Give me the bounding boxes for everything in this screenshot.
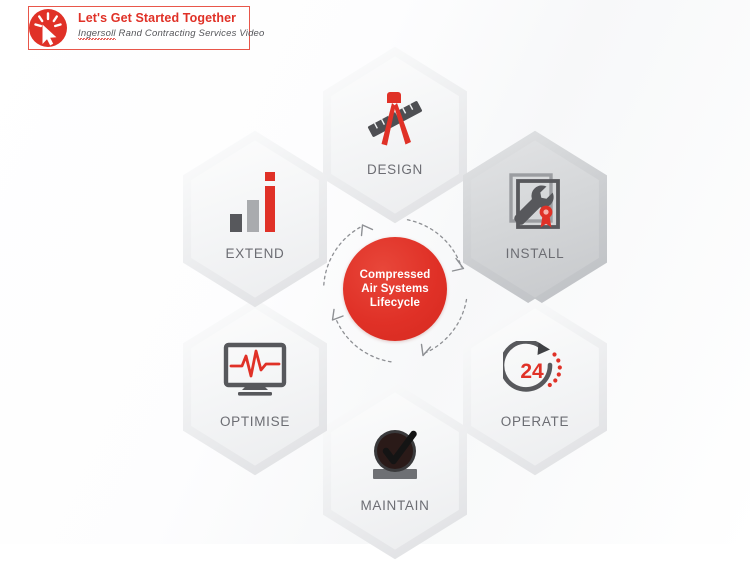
lifecycle-center-text: Compressed Air Systems Lifecycle — [360, 268, 431, 310]
lifecycle-node-label: EXTEND — [175, 246, 335, 261]
lifecycle-node-optimise[interactable]: OPTIMISE — [175, 296, 335, 478]
header-title: Let's Get Started Together — [78, 11, 254, 25]
award-ribbon — [540, 206, 553, 228]
lifecycle-node-label: OPTIMISE — [175, 414, 335, 429]
header-subtitle: Ingersoll Rand Contracting Services Vide… — [78, 28, 254, 40]
lifecycle-node-maintain[interactable]: MAINTAIN — [315, 380, 475, 562]
compressed-air-lifecycle-diagram: Compressed Air Systems Lifecycle — [0, 0, 750, 544]
compass-and-ruler-icon — [315, 86, 475, 152]
bar-chart-growth-icon — [175, 170, 335, 236]
header-subtitle-rest: Rand Contracting Services Video — [116, 28, 265, 39]
lifecycle-center-circle[interactable]: Compressed Air Systems Lifecycle — [343, 237, 447, 341]
center-line-1: Compressed — [360, 268, 431, 282]
click-cursor-logo-icon — [26, 6, 70, 50]
wrench-document-award-icon — [455, 170, 615, 236]
lifecycle-node-operate[interactable]: 24 OPERATE — [455, 296, 615, 478]
center-line-3: Lifecycle — [360, 296, 431, 310]
gauge-checkmark-icon — [315, 422, 475, 488]
operate-24-label: 24 — [520, 360, 544, 383]
lifecycle-node-label: OPERATE — [455, 414, 615, 429]
lifecycle-node-label: DESIGN — [315, 162, 475, 177]
lifecycle-node-label: MAINTAIN — [315, 498, 475, 513]
lifecycle-node-design[interactable]: DESIGN — [315, 44, 475, 226]
24-hour-cycle-arrow-icon: 24 — [455, 338, 615, 404]
header-text-block: Let's Get Started Together Ingersoll Ran… — [78, 11, 254, 40]
lifecycle-node-install[interactable]: INSTALL — [455, 128, 615, 310]
header-subtitle-misspelled-word: Ingersoll — [78, 28, 116, 40]
lifecycle-node-label: INSTALL — [455, 246, 615, 261]
lifecycle-node-extend[interactable]: EXTEND — [175, 128, 335, 310]
center-line-2: Air Systems — [360, 282, 431, 296]
monitor-heartbeat-icon — [175, 338, 335, 404]
